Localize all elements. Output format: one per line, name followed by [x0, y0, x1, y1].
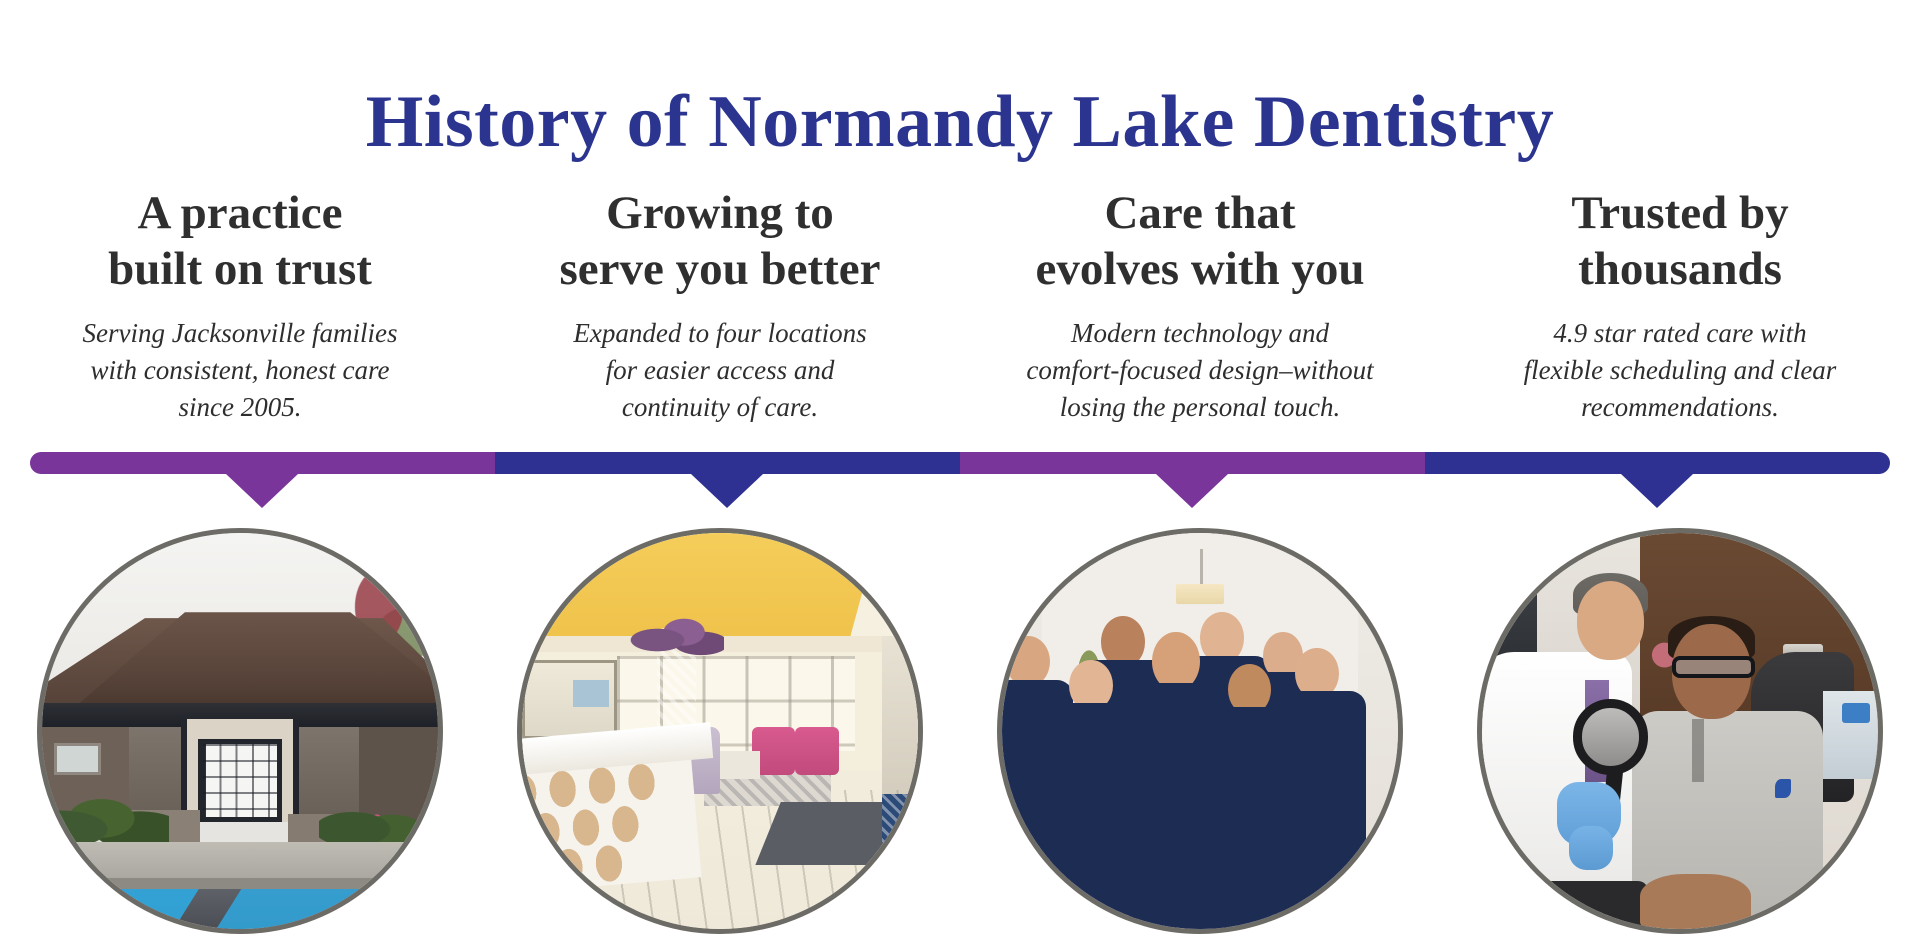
milestone-subtitle-1: Serving Jacksonville families with consi… — [83, 315, 398, 426]
milestone-column-1: A practice built on trust Serving Jackso… — [0, 185, 480, 425]
office-exterior-photo — [37, 528, 443, 934]
office-exterior-image — [42, 533, 438, 929]
milestone-heading-3: Care that evolves with you — [1036, 185, 1365, 297]
milestone-heading-2: Growing to serve you better — [559, 185, 880, 297]
milestone-heading-4: Trusted by thousands — [1571, 185, 1788, 297]
reception-waiting-room-image — [522, 533, 918, 929]
milestone-column-2: Growing to serve you better Expanded to … — [480, 185, 960, 425]
reception-waiting-room-photo — [517, 528, 923, 934]
timeline-markers — [30, 474, 1890, 508]
dentist-with-patient-image — [1482, 533, 1878, 929]
dentist-with-patient-photo — [1477, 528, 1883, 934]
milestone-heading-1: A practice built on trust — [108, 185, 372, 297]
dental-team-photo — [997, 528, 1403, 934]
timeline-bar — [30, 452, 1890, 474]
timeline-segment-1 — [30, 452, 495, 474]
photo-cell-2 — [480, 528, 960, 948]
page-title: History of Normandy Lake Dentistry — [0, 76, 1920, 168]
milestone-subtitle-3: Modern technology and comfort-focused de… — [1026, 315, 1373, 426]
photo-row — [0, 528, 1920, 948]
photo-cell-4 — [1440, 528, 1920, 948]
history-timeline-infographic: History of Normandy Lake Dentistry A pra… — [0, 0, 1920, 950]
dental-team-image — [1002, 533, 1398, 929]
timeline-segment-2 — [495, 452, 960, 474]
milestone-column-4: Trusted by thousands 4.9 star rated care… — [1440, 185, 1920, 425]
timeline-marker-triangle-1 — [226, 474, 298, 508]
milestone-subtitle-4: 4.9 star rated care with flexible schedu… — [1524, 315, 1837, 426]
timeline-segment-3 — [960, 452, 1425, 474]
timeline-marker-triangle-3 — [1156, 474, 1228, 508]
milestone-column-3: Care that evolves with you Modern techno… — [960, 185, 1440, 425]
timeline-segment-4 — [1425, 452, 1890, 474]
photo-cell-3 — [960, 528, 1440, 948]
milestone-text-row: A practice built on trust Serving Jackso… — [0, 185, 1920, 425]
photo-cell-1 — [0, 528, 480, 948]
milestone-subtitle-2: Expanded to four locations for easier ac… — [573, 315, 866, 426]
timeline-marker-triangle-2 — [691, 474, 763, 508]
timeline-marker-triangle-4 — [1621, 474, 1693, 508]
timeline-track — [30, 452, 1890, 474]
